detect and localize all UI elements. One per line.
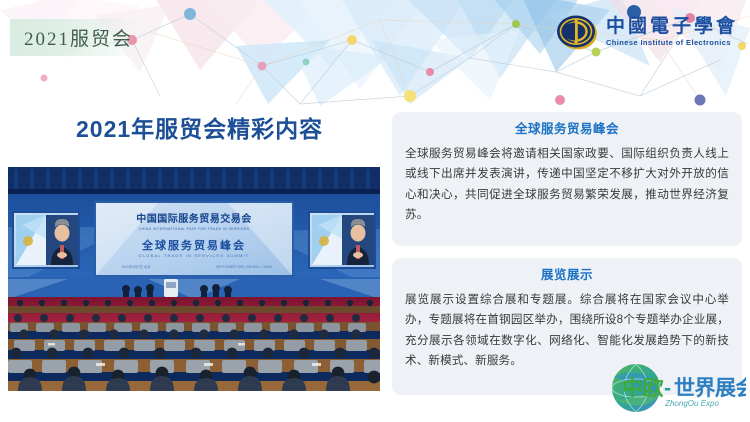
svg-text:世界展会: 世界展会 (674, 376, 746, 400)
cie-emblem-icon (555, 10, 599, 54)
card-title-summit: 全球服务贸易峰会 (405, 121, 729, 139)
logo-english-name: Chinese Institute of Electronics (606, 39, 738, 47)
svg-text:2021年9月3日 北京: 2021年9月3日 北京 (121, 264, 151, 269)
info-card-summit: 全球服务贸易峰会 全球服务贸易峰会将邀请相关国家政要、国际组织负责人线上或线下出… (392, 112, 742, 246)
watermark-cn-text: 中欧 (622, 376, 663, 400)
svg-text:SEPTEMBER 3RD, BEIJING, CHINA: SEPTEMBER 3RD, BEIJING, CHINA (216, 265, 273, 269)
logo-chinese-name: 中國電子學會 (606, 17, 738, 36)
card-body-exhibition: 展览展示设置综合展和专题展。综合展将在国家会议中心举办，专题展将在首钢园区举办，… (405, 290, 729, 373)
event-tag: 2021服贸会 (10, 19, 142, 56)
svg-text:全球服务贸易峰会: 全球服务贸易峰会 (141, 238, 246, 252)
svg-text:-: - (664, 377, 671, 400)
card-title-exhibition: 展览展示 (405, 267, 729, 285)
slide-root: 2021服贸会 中國電子學會 Chinese Institute of Elec… (0, 0, 750, 422)
organization-logo: 中國電子學會 Chinese Institute of Electronics (555, 8, 738, 56)
svg-text:CHINA INTERNATIONAL FAIR FOR T: CHINA INTERNATIONAL FAIR FOR TRADE IN SE… (139, 227, 250, 231)
zhongou-expo-watermark: 中欧 - 世界展会 ZhongOu Expo (596, 361, 746, 417)
event-tag-label: 2021服贸会 (10, 24, 133, 51)
svg-text:GLOBAL TRADE IN SERVICES SUMMI: GLOBAL TRADE IN SERVICES SUMMIT (139, 253, 250, 258)
card-body-summit: 全球服务贸易峰会将邀请相关国家政要、国际组织负责人线上或线下出席并发表演讲，传递… (405, 144, 729, 227)
conference-photo: 中国国际服务贸易交易会 CHINA INTERNATIONAL FAIR FOR… (8, 167, 380, 391)
page-title: 2021年服贸会精彩内容 (76, 110, 323, 144)
svg-text:中国国际服务贸易交易会: 中国国际服务贸易交易会 (136, 212, 252, 225)
watermark-en-text: ZhongOu Expo (664, 399, 719, 408)
